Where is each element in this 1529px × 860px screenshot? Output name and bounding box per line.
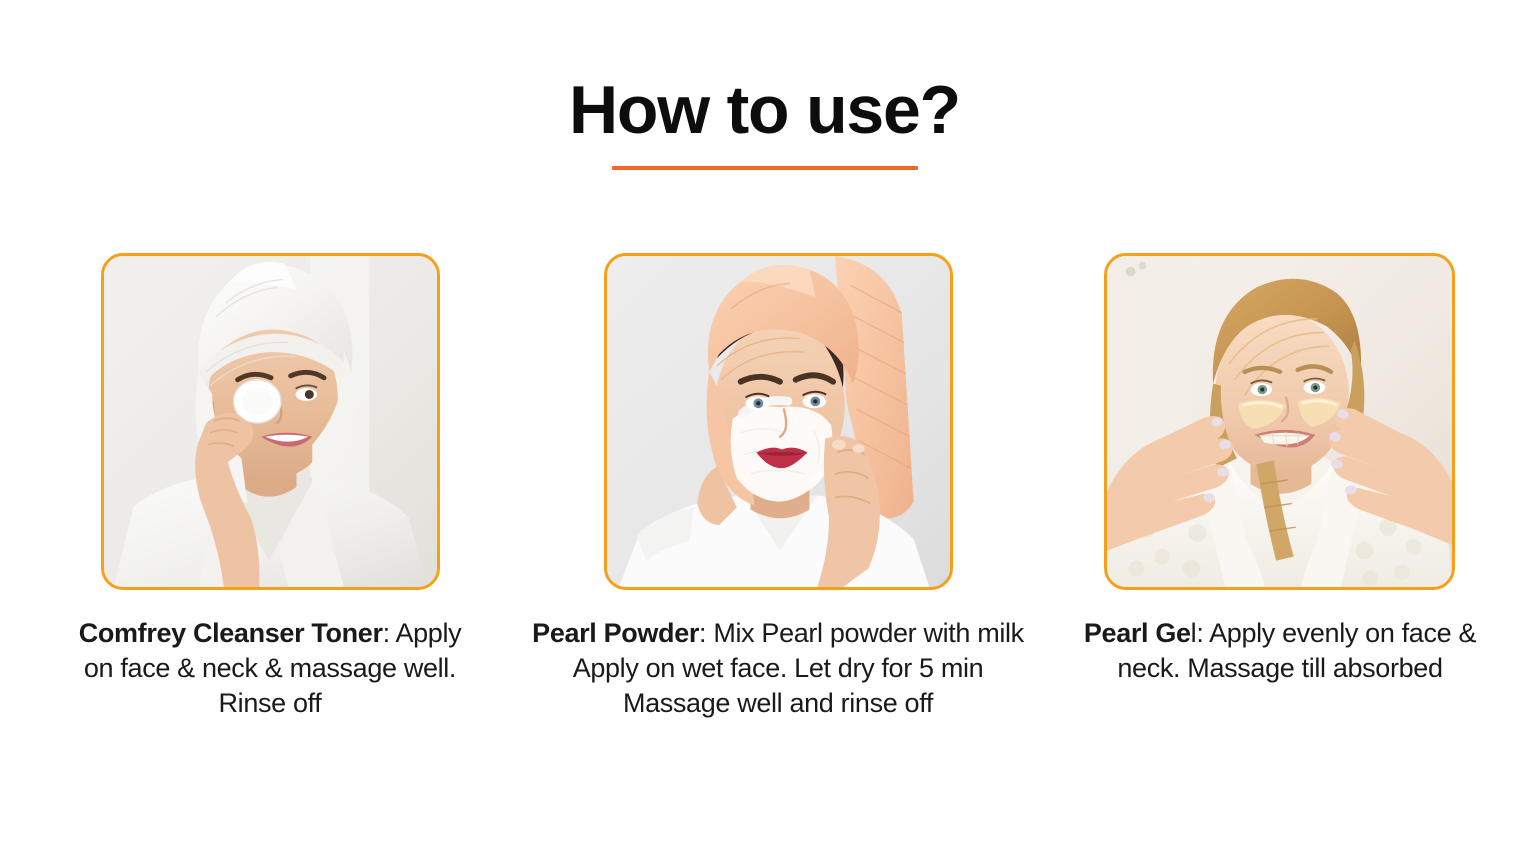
title-block: How to use?: [0, 76, 1529, 170]
step-caption-1: Comfrey Cleanser Toner: Apply on face & …: [70, 616, 470, 721]
step-photo-frame-2: [604, 253, 953, 590]
step-card-pearl-powder: Pearl Powder: Mix Pearl powder with milk…: [604, 253, 953, 721]
title-underline-divider: [612, 166, 918, 170]
step-caption-3: Pearl Gel: Apply evenly on face & neck. …: [1080, 616, 1480, 686]
page-title: How to use?: [0, 76, 1529, 144]
how-to-use-page: How to use?: [0, 0, 1529, 860]
step-photo-2: [607, 256, 950, 587]
step-caption-2: Pearl Powder: Mix Pearl powder with milk…: [528, 616, 1028, 721]
steps-row: Comfrey Cleanser Toner: Apply on face & …: [0, 253, 1529, 773]
step-photo-1: [104, 256, 437, 587]
step-card-comfrey-cleanser-toner: Comfrey Cleanser Toner: Apply on face & …: [101, 253, 440, 721]
step-photo-frame-1: [101, 253, 440, 590]
step-card-pearl-gel: Pearl Gel: Apply evenly on face & neck. …: [1104, 253, 1455, 686]
step-photo-3: [1107, 256, 1452, 587]
step-caption-lead-1: Comfrey Cleanser Toner: [79, 618, 383, 648]
step-caption-lead-3: Pearl Ge: [1084, 618, 1191, 648]
step-caption-lead-2: Pearl Powder: [532, 618, 699, 648]
step-photo-frame-3: [1104, 253, 1455, 590]
